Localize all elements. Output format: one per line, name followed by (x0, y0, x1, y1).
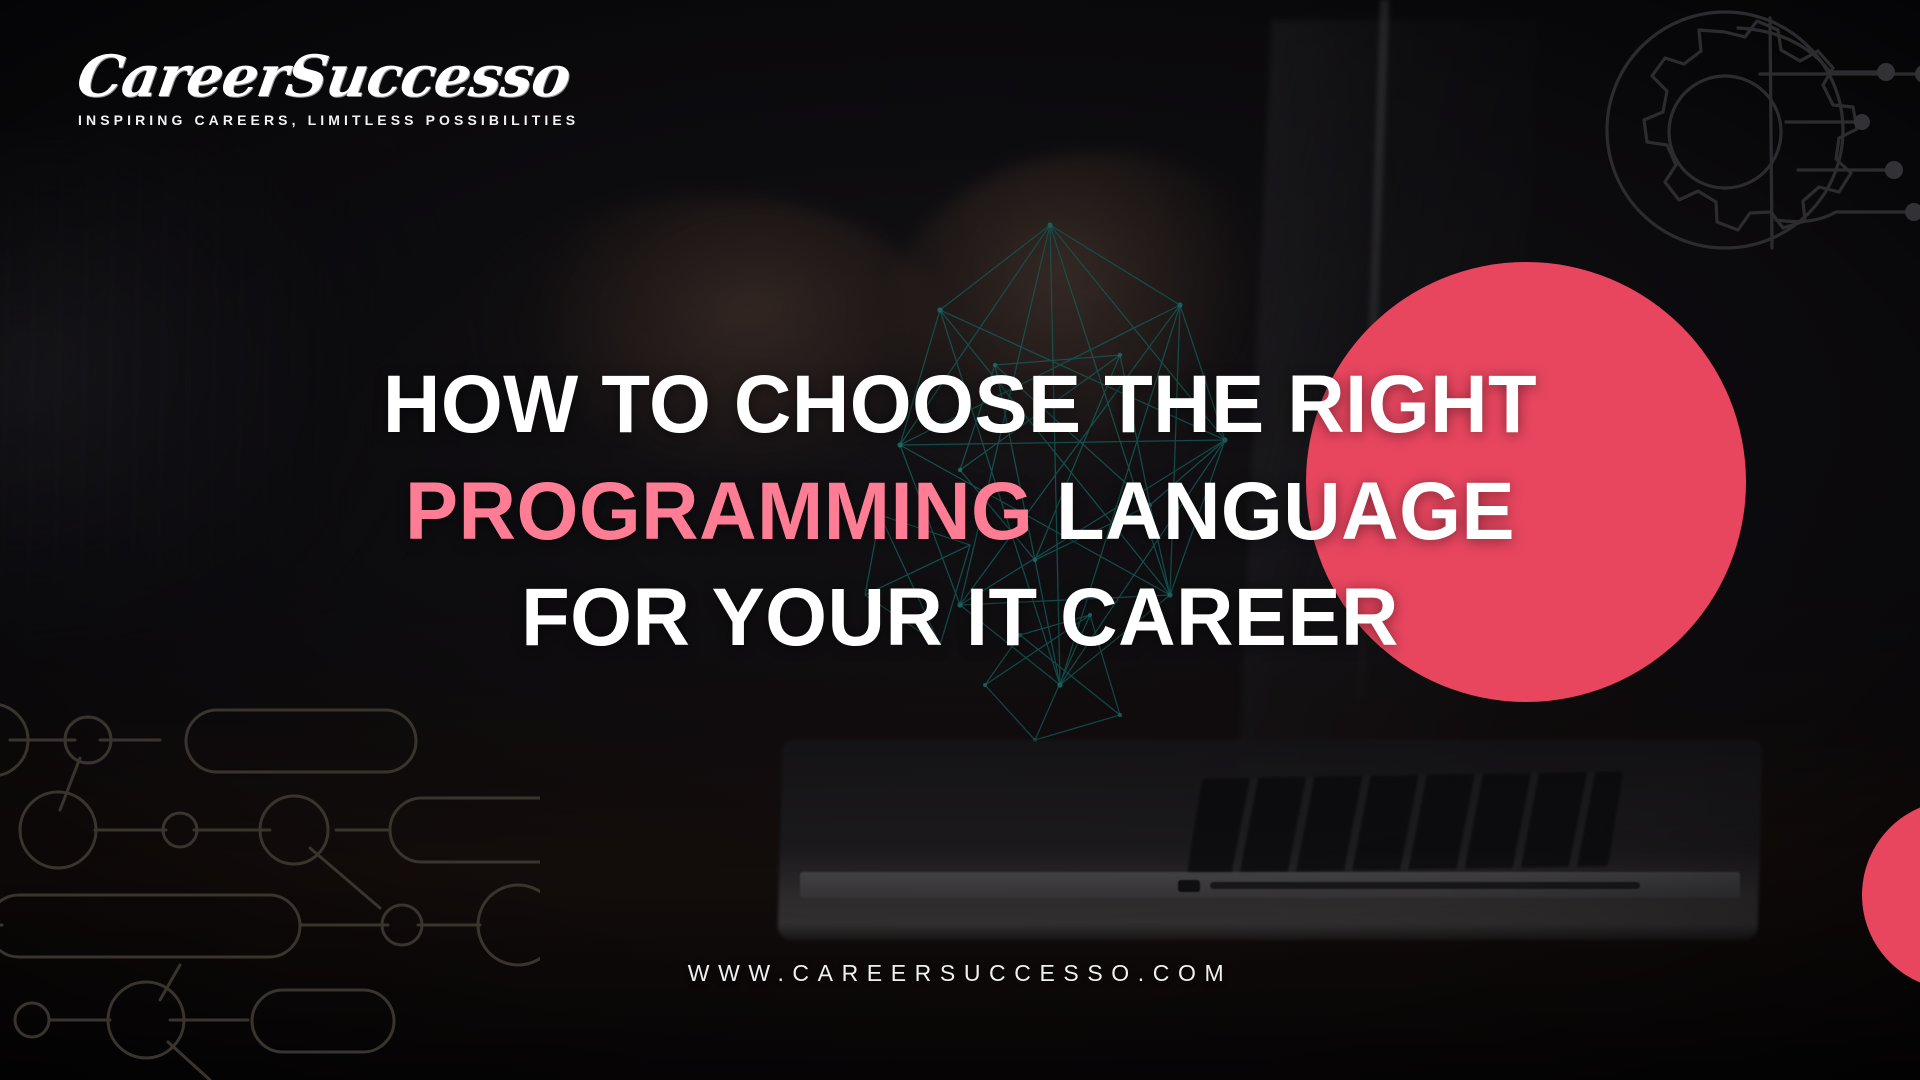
page-title: HOW TO CHOOSE THE RIGHT PROGRAMMING LANG… (0, 352, 1920, 672)
logo-wordmark: CareerSuccesso (73, 48, 552, 106)
website-url[interactable]: WWW.CAREERSUCCESSO.COM (0, 960, 1920, 987)
headline-line-1: HOW TO CHOOSE THE RIGHT (165, 352, 1756, 459)
gear-circuit-icon (1590, 10, 1920, 260)
headline-highlight-right: RIGHT (1287, 359, 1537, 450)
network-nodes-icon (0, 680, 540, 1080)
headline-line-2: PROGRAMMING LANGUAGE (165, 459, 1756, 566)
headline-line-1-text: HOW TO CHOOSE THE (383, 359, 1287, 450)
headline-line-2-text: LANGUAGE (1033, 466, 1515, 557)
logo[interactable]: CareerSuccesso INSPIRING CAREERS, LIMITL… (78, 48, 548, 128)
headline-line-3: FOR YOUR IT CAREER (165, 565, 1756, 672)
headline-highlight-programming: PROGRAMMING (405, 466, 1033, 557)
logo-tagline: INSPIRING CAREERS, LIMITLESS POSSIBILITI… (78, 112, 548, 128)
blog-banner: CareerSuccesso INSPIRING CAREERS, LIMITL… (0, 0, 1920, 1080)
